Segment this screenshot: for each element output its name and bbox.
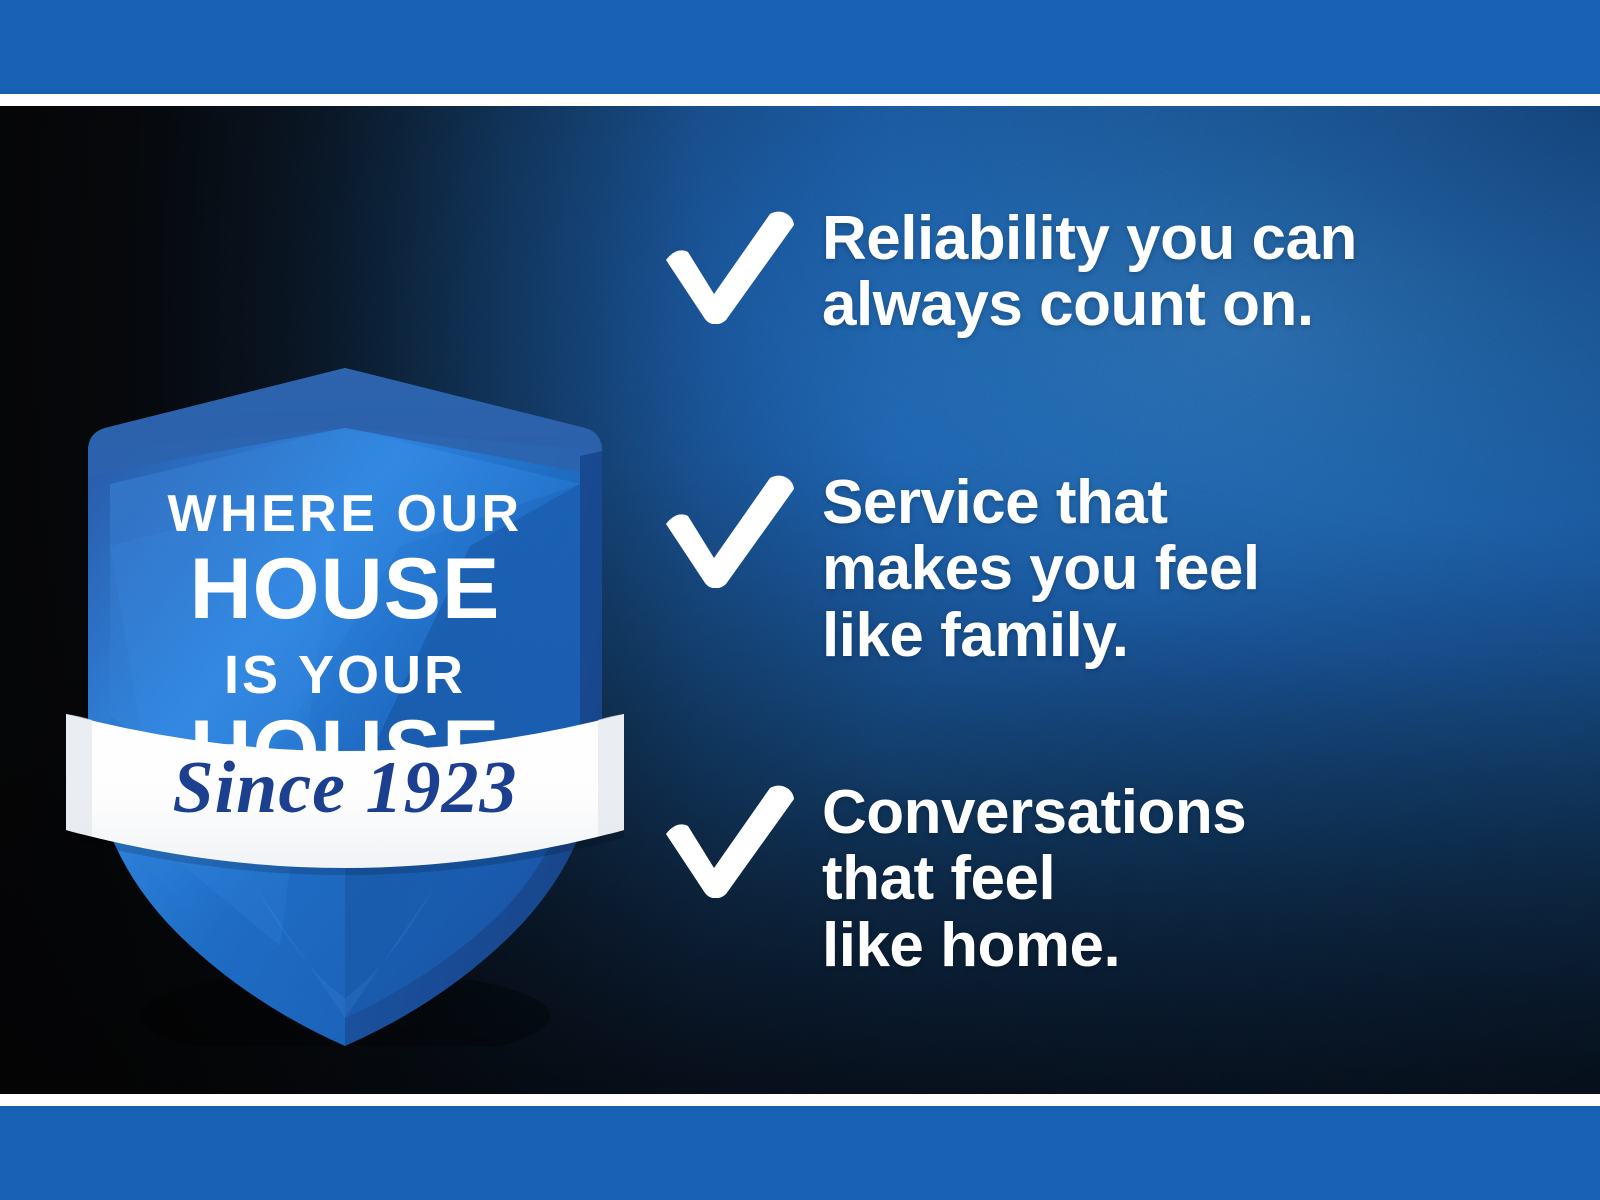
check-icon xyxy=(660,208,800,324)
badge-line-2: HOUSE xyxy=(190,541,501,637)
benefit-item-1: Reliability you can always count on. xyxy=(660,206,1357,339)
benefit-text-1: Reliability you can always count on. xyxy=(822,206,1357,339)
ribbon-fold-right xyxy=(598,714,624,836)
poster-canvas: WHERE OUR HOUSE IS YOUR HOUSE Since 1923 xyxy=(0,0,1600,1200)
benefit-item-2: Service that makes you feel like family. xyxy=(660,470,1260,669)
ribbon-text: Since 1923 xyxy=(172,747,517,829)
benefit-text-2: Service that makes you feel like family. xyxy=(822,470,1260,669)
benefit-item-3: Conversations that feel like home. xyxy=(660,780,1246,979)
top-brand-bar xyxy=(0,0,1600,94)
check-icon xyxy=(660,782,800,898)
badge-line-1: WHERE OUR xyxy=(167,485,522,543)
check-icon xyxy=(660,472,800,588)
bottom-brand-bar xyxy=(0,1106,1600,1200)
shield-emblem: WHERE OUR HOUSE IS YOUR HOUSE Since 1923 xyxy=(40,246,640,1046)
ribbon-fold-left xyxy=(66,714,92,836)
badge-line-3: IS YOUR xyxy=(224,645,466,705)
benefit-text-3: Conversations that feel like home. xyxy=(822,780,1246,979)
benefits-list: Reliability you can always count on. Ser… xyxy=(660,120,1560,1070)
